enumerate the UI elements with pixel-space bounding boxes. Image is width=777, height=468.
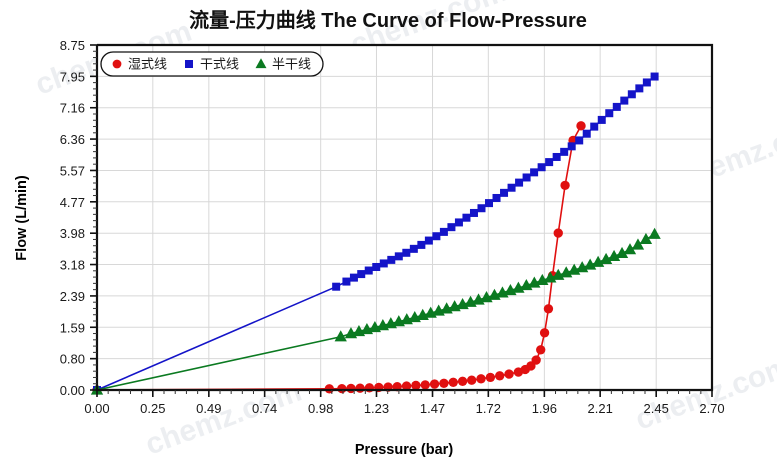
x-tick-label: 2.70 <box>699 401 724 416</box>
data-point-marker-2 <box>553 153 561 161</box>
data-point-marker-2 <box>515 179 523 187</box>
data-point-marker-2 <box>402 249 410 257</box>
data-point-marker-2 <box>583 130 591 138</box>
data-point-marker-1 <box>554 228 563 237</box>
data-point-marker-2 <box>651 73 659 81</box>
data-point-marker-1 <box>430 379 439 388</box>
data-point-marker-1 <box>337 384 346 393</box>
data-point-marker-2 <box>643 78 651 86</box>
x-tick-label: 1.47 <box>420 401 445 416</box>
data-point-marker-1 <box>495 371 504 380</box>
data-point-marker-2 <box>387 256 395 264</box>
legend[interactable]: 湿式线干式线半干线 <box>101 52 323 76</box>
flow-pressure-chart: chemz.comchemz.comchemz.comchemz.comchem… <box>0 0 777 468</box>
x-tick-label: 1.23 <box>364 401 389 416</box>
data-point-marker-2 <box>395 252 403 260</box>
data-point-marker-1 <box>458 377 467 386</box>
data-point-marker-2 <box>545 158 553 166</box>
data-point-marker-1 <box>467 375 476 384</box>
y-tick-label: 1.59 <box>60 320 85 335</box>
y-tick-label: 2.39 <box>60 289 85 304</box>
data-point-marker-2 <box>357 270 365 278</box>
data-point-marker-1 <box>504 369 513 378</box>
data-point-marker-1 <box>531 355 540 364</box>
y-tick-label: 5.57 <box>60 163 85 178</box>
data-point-marker-2 <box>410 245 418 253</box>
data-point-marker-2 <box>575 136 583 144</box>
data-point-marker-2 <box>350 274 358 282</box>
data-point-marker-2 <box>635 84 643 92</box>
data-point-marker-1 <box>544 304 553 313</box>
page-title: 流量-压力曲线 The Curve of Flow-Pressure <box>189 8 587 32</box>
data-point-marker-2 <box>538 163 546 171</box>
y-tick-label: 7.95 <box>60 69 85 84</box>
data-point-marker-2 <box>613 103 621 111</box>
x-tick-label: 1.96 <box>532 401 557 416</box>
data-point-marker-2 <box>568 142 576 150</box>
data-point-marker-2 <box>432 232 440 240</box>
y-tick-label: 0.80 <box>60 352 85 367</box>
data-point-marker-1 <box>421 380 430 389</box>
x-tick-label: 0.98 <box>308 401 333 416</box>
y-tick-label: 4.77 <box>60 195 85 210</box>
data-point-marker-1 <box>576 121 585 130</box>
data-point-marker-1 <box>355 384 364 393</box>
legend-marker-2[interactable] <box>185 60 193 68</box>
data-point-marker-2 <box>560 148 568 156</box>
x-tick-label: 2.21 <box>588 401 613 416</box>
data-point-marker-1 <box>560 181 569 190</box>
data-point-marker-2 <box>530 168 538 176</box>
data-point-marker-2 <box>598 116 606 124</box>
data-point-marker-2 <box>440 228 448 236</box>
x-tick-label: 1.72 <box>476 401 501 416</box>
x-axis-ticks: 0.000.250.490.740.981.231.471.721.962.21… <box>84 390 724 416</box>
data-point-marker-2 <box>485 199 493 207</box>
chart-canvas: chemz.comchemz.comchemz.comchemz.comchem… <box>0 0 777 468</box>
x-tick-label: 0.49 <box>196 401 221 416</box>
x-tick-label: 0.74 <box>252 401 277 416</box>
legend-label-2[interactable]: 干式线 <box>200 56 239 71</box>
data-point-marker-1 <box>486 373 495 382</box>
data-point-marker-2 <box>462 214 470 222</box>
data-point-marker-2 <box>365 267 373 275</box>
data-point-marker-2 <box>342 278 350 286</box>
data-point-marker-1 <box>536 345 545 354</box>
y-tick-label: 7.16 <box>60 101 85 116</box>
data-point-marker-2 <box>417 241 425 249</box>
legend-marker-1[interactable] <box>113 60 122 69</box>
data-point-marker-1 <box>540 328 549 337</box>
data-point-marker-1 <box>449 378 458 387</box>
data-point-marker-2 <box>500 189 508 197</box>
data-point-marker-1 <box>411 381 420 390</box>
data-point-marker-1 <box>476 374 485 383</box>
data-point-marker-2 <box>332 283 340 291</box>
data-point-marker-2 <box>605 109 613 117</box>
data-point-marker-2 <box>470 209 478 217</box>
data-point-marker-2 <box>477 204 485 212</box>
data-point-marker-2 <box>628 90 636 98</box>
y-tick-label: 3.98 <box>60 226 85 241</box>
data-point-marker-1 <box>365 383 374 392</box>
plot-background <box>97 45 712 390</box>
data-point-marker-1 <box>325 384 334 393</box>
data-point-marker-2 <box>620 97 628 105</box>
y-tick-label: 6.36 <box>60 132 85 147</box>
y-tick-label: 8.75 <box>60 38 85 53</box>
data-point-marker-2 <box>508 184 516 192</box>
y-tick-label: 3.18 <box>60 258 85 273</box>
data-point-marker-2 <box>447 223 455 231</box>
data-point-marker-2 <box>372 263 380 271</box>
data-point-marker-2 <box>590 123 598 131</box>
data-point-marker-2 <box>523 173 531 181</box>
data-point-marker-2 <box>493 194 501 202</box>
x-tick-label: 0.25 <box>140 401 165 416</box>
data-point-marker-2 <box>455 218 463 226</box>
legend-label-1[interactable]: 湿式线 <box>128 56 167 71</box>
x-tick-label: 2.45 <box>644 401 669 416</box>
y-axis-title: Flow (L/min) <box>14 175 30 261</box>
data-point-marker-2 <box>380 259 388 267</box>
data-point-marker-1 <box>439 379 448 388</box>
x-tick-label: 0.00 <box>84 401 109 416</box>
x-axis-title: Pressure (bar) <box>355 442 453 458</box>
y-tick-label: 0.00 <box>60 383 85 398</box>
data-point-marker-2 <box>425 237 433 245</box>
legend-label-3[interactable]: 半干线 <box>272 56 311 71</box>
